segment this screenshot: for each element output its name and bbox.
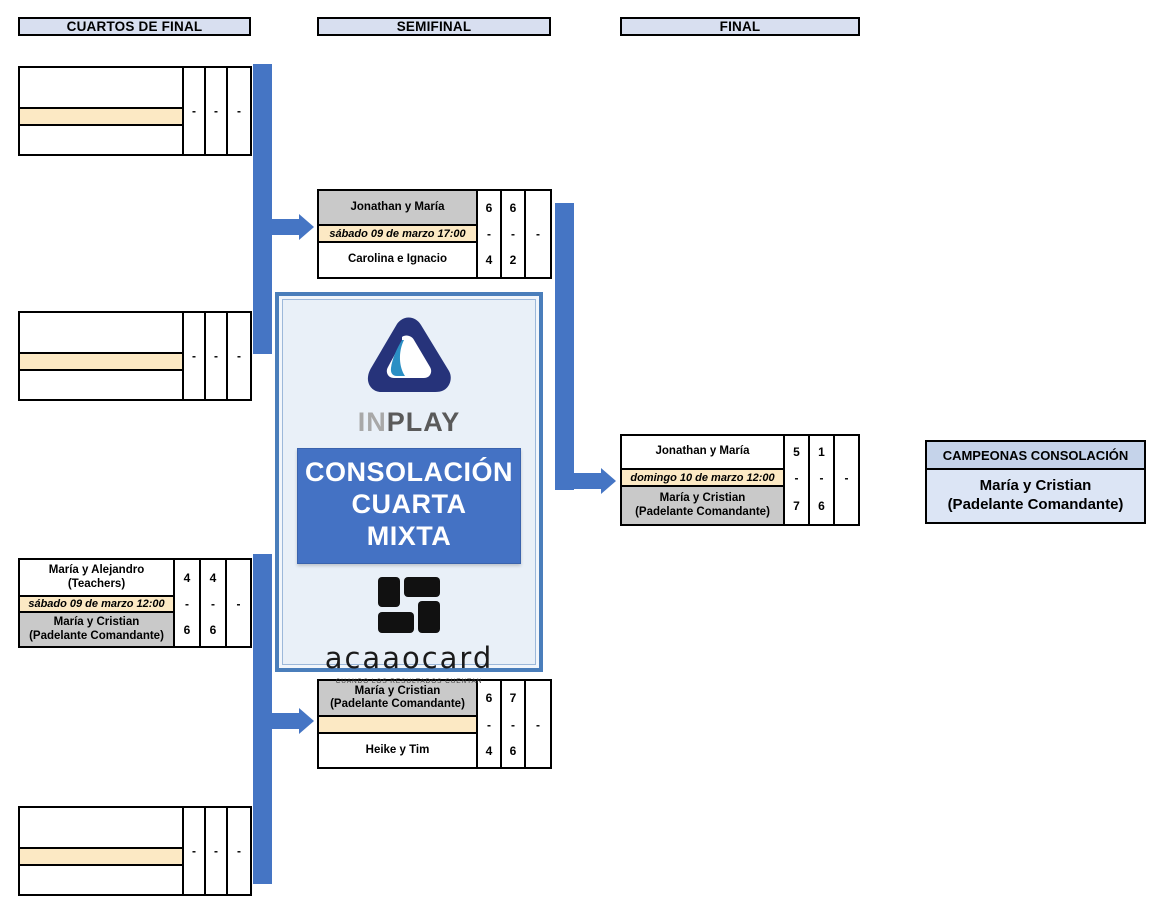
score-sep-3: -	[228, 840, 250, 862]
round-header-quarterfinals: CUARTOS DE FINAL	[18, 17, 251, 36]
score-sep-3: -	[835, 468, 858, 487]
score-bottom-set2: 2	[502, 243, 524, 277]
team-top	[20, 68, 182, 107]
team-top: Jonathan y María	[622, 436, 783, 468]
score-sep-3: -	[228, 100, 250, 122]
score-bottom-set2: 6	[810, 487, 833, 524]
score-top-set1: 6	[478, 191, 500, 224]
score-sep-1: -	[175, 595, 199, 613]
score-top-set2	[206, 68, 226, 100]
connector-arrow-final	[601, 468, 616, 494]
score-sep-2: -	[810, 468, 833, 487]
score-bottom-set1: 7	[785, 487, 808, 524]
score-bottom-set1: 4	[478, 243, 500, 277]
team-top: Jonathan y María	[319, 191, 476, 224]
round-header-semifinal: SEMIFINAL	[317, 17, 551, 36]
score-bottom-set2: 6	[201, 613, 225, 646]
score-bottom-set1	[184, 862, 204, 894]
inplay-wordmark: INPLAY	[358, 407, 461, 438]
round-header-label: SEMIFINAL	[397, 19, 472, 34]
score-bottom-set2	[206, 367, 226, 399]
score-top-set2	[206, 808, 226, 840]
score-top-set1: 4	[175, 560, 199, 595]
score-sep-2: -	[502, 224, 524, 243]
team-bottom: María y Cristian (Padelante Comandante)	[622, 487, 783, 524]
score-bottom-set3	[835, 487, 858, 524]
match-date	[20, 107, 182, 126]
promo-line-3: MIXTA	[367, 521, 452, 553]
score-top-set1: 6	[478, 681, 500, 715]
score-top-set3	[228, 808, 250, 840]
match-date: sábado 09 de marzo 12:00	[20, 595, 173, 613]
score-grid: - - -	[184, 313, 250, 399]
score-sep-3: -	[228, 345, 250, 367]
score-bottom-set2: 6	[502, 734, 524, 767]
score-top-set2: 6	[502, 191, 524, 224]
match-qf2[interactable]: - - -	[18, 311, 252, 401]
inplay-word-in: IN	[358, 407, 387, 437]
connector-arrow-semifinal-1	[299, 214, 314, 240]
connector-sf-stem	[555, 473, 602, 489]
score-grid: - - -	[184, 808, 250, 894]
score-top-set1	[184, 313, 204, 345]
team-top	[20, 313, 182, 352]
score-bottom-set3	[227, 613, 250, 646]
connector-qf-top-stem	[253, 219, 300, 235]
team-bottom	[20, 126, 182, 154]
score-top-set3	[526, 191, 550, 224]
score-sep-2: -	[206, 840, 226, 862]
score-bottom-set3	[526, 734, 550, 767]
promo-panel: INPLAY CONSOLACIÓN CUARTA MIXTA acaaocar…	[275, 292, 543, 672]
score-sep-1: -	[184, 100, 204, 122]
team-top	[20, 808, 182, 847]
acaaocard-logo-icon	[376, 576, 442, 639]
score-bottom-set1: 4	[478, 734, 500, 767]
match-qf1[interactable]: - - -	[18, 66, 252, 156]
score-bottom-set3	[526, 243, 550, 277]
connector-qf-top-spine	[253, 64, 272, 354]
score-sep-2: -	[206, 345, 226, 367]
score-bottom-set2	[206, 122, 226, 154]
score-top-set1	[184, 808, 204, 840]
match-date: domingo 10 de marzo 12:00	[622, 468, 783, 487]
score-sep-1: -	[184, 345, 204, 367]
score-top-set1	[184, 68, 204, 100]
match-final[interactable]: Jonathan y María domingo 10 de marzo 12:…	[620, 434, 860, 526]
score-sep-1: -	[478, 224, 500, 243]
score-top-set3	[228, 313, 250, 345]
inplay-word-play: PLAY	[387, 407, 461, 437]
score-bottom-set1	[184, 367, 204, 399]
score-sep-1: -	[478, 715, 500, 734]
team-top: María y Cristian (Padelante Comandante)	[319, 681, 476, 715]
match-date	[319, 715, 476, 734]
score-top-set3	[835, 436, 858, 468]
score-sep-3: -	[227, 595, 250, 613]
round-header-final: FINAL	[620, 17, 860, 36]
score-bottom-set3	[228, 367, 250, 399]
score-top-set3	[228, 68, 250, 100]
promo-line-2: CUARTA	[352, 489, 467, 521]
bracket-stage: CUARTOS DE FINAL SEMIFINAL FINAL -	[0, 0, 1172, 917]
promo-line-1: CONSOLACIÓN	[305, 457, 513, 489]
score-top-set2	[206, 313, 226, 345]
score-bottom-set1	[184, 122, 204, 154]
score-grid: 4 - 6 4 - 6 -	[175, 560, 250, 646]
team-top: María y Alejandro (Teachers)	[20, 560, 173, 595]
score-sep-2: -	[502, 715, 524, 734]
inplay-logo-icon	[361, 314, 457, 405]
score-sep-3: -	[526, 715, 550, 734]
promo-title-band: CONSOLACIÓN CUARTA MIXTA	[297, 448, 521, 564]
champion-title: CAMPEONAS CONSOLACIÓN	[927, 442, 1144, 470]
round-header-label: CUARTOS DE FINAL	[67, 19, 203, 34]
score-sep-3: -	[526, 224, 550, 243]
score-bottom-set2	[206, 862, 226, 894]
match-date	[20, 352, 182, 371]
match-sf2[interactable]: María y Cristian (Padelante Comandante) …	[317, 679, 552, 769]
score-top-set3	[227, 560, 250, 595]
score-sep-1: -	[785, 468, 808, 487]
score-bottom-set3	[228, 122, 250, 154]
match-date: sábado 09 de marzo 17:00	[319, 224, 476, 243]
score-sep-1: -	[184, 840, 204, 862]
team-bottom: Heike y Tim	[319, 734, 476, 767]
score-grid: 5 - 7 1 - 6 -	[785, 436, 858, 524]
score-top-set2: 7	[502, 681, 524, 715]
score-bottom-set1: 6	[175, 613, 199, 646]
score-top-set2: 1	[810, 436, 833, 468]
team-bottom	[20, 866, 182, 894]
score-top-set3	[526, 681, 550, 715]
match-qf4[interactable]: - - -	[18, 806, 252, 896]
score-top-set2: 4	[201, 560, 225, 595]
connector-arrow-semifinal-2	[299, 708, 314, 734]
score-top-set1: 5	[785, 436, 808, 468]
score-grid: 6 - 4 7 - 6 -	[478, 681, 550, 767]
match-sf1[interactable]: Jonathan y María sábado 09 de marzo 17:0…	[317, 189, 552, 279]
connector-sf-spine	[555, 203, 574, 490]
score-grid: - - -	[184, 68, 250, 154]
team-bottom: Carolina e Ignacio	[319, 243, 476, 277]
acaaocard-wordmark: acaaocard	[325, 641, 494, 675]
team-bottom	[20, 371, 182, 399]
team-bottom: María y Cristian (Padelante Comandante)	[20, 613, 173, 646]
acaaocard-tagline: CUANDO LOS RESULTADOS CUENTAN	[336, 678, 483, 685]
round-header-label: FINAL	[720, 19, 761, 34]
connector-qf-bottom-stem	[253, 713, 300, 729]
score-grid: 6 - 4 6 - 2 -	[478, 191, 550, 277]
score-bottom-set3	[228, 862, 250, 894]
champion-box: CAMPEONAS CONSOLACIÓN María y Cristian (…	[925, 440, 1146, 524]
match-qf3[interactable]: María y Alejandro (Teachers) sábado 09 d…	[18, 558, 252, 648]
champion-team: María y Cristian (Padelante Comandante)	[927, 470, 1144, 522]
match-date	[20, 847, 182, 866]
score-sep-2: -	[201, 595, 225, 613]
score-sep-2: -	[206, 100, 226, 122]
